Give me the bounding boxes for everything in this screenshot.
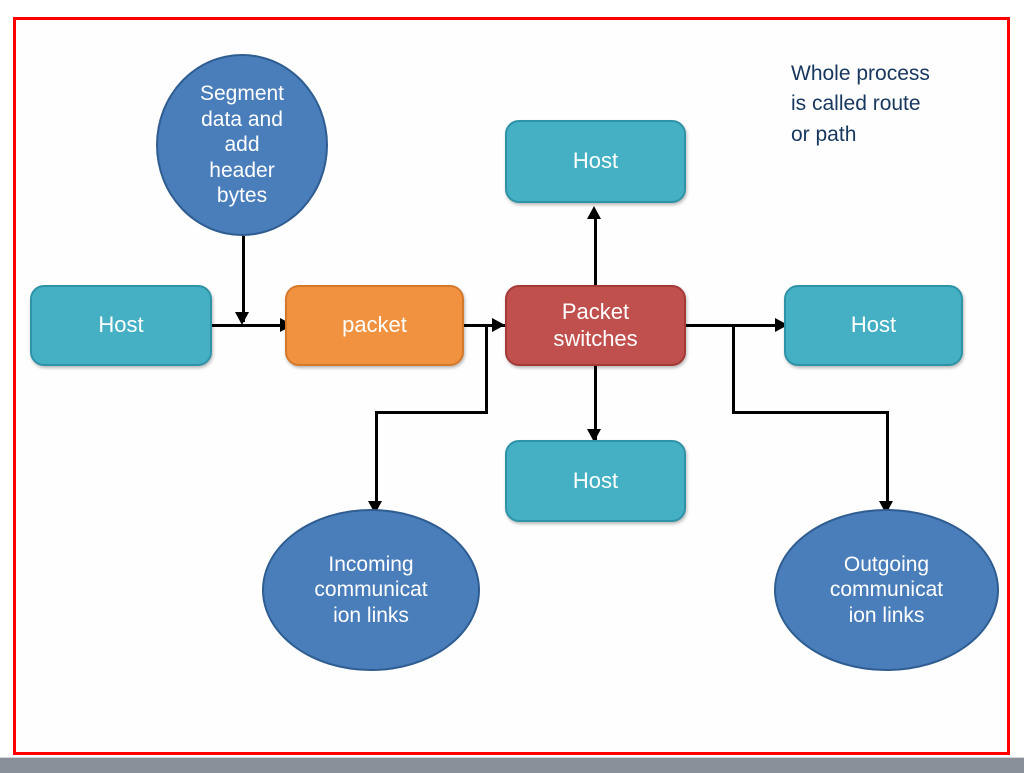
- outgoing-line-3: ion links: [849, 604, 925, 627]
- note-line-1: Whole process: [791, 59, 996, 89]
- node-packet[interactable]: packet: [285, 285, 464, 366]
- connector-segment-to-link: [242, 236, 245, 322]
- node-host-left[interactable]: Host: [30, 285, 212, 366]
- segment-line-4: header: [209, 159, 274, 182]
- segment-line-1: Segment: [200, 82, 284, 105]
- outgoing-line-1: Outgoing: [844, 553, 929, 576]
- host-left-label: Host: [98, 312, 143, 339]
- packet-switches-line-2: switches: [553, 326, 637, 351]
- connector-branch-outgoing-vertical-1: [732, 324, 735, 414]
- segment-line-3: add: [224, 133, 259, 156]
- diagram-screenshot: Whole process is called route or path: [0, 0, 1024, 773]
- node-host-right[interactable]: Host: [784, 285, 963, 366]
- segment-line-2: data and: [201, 108, 283, 131]
- connector-branch-incoming-vertical-1: [485, 324, 488, 414]
- node-incoming-ellipse[interactable]: Incoming communicat ion links: [262, 509, 480, 671]
- incoming-line-1: Incoming: [328, 553, 413, 576]
- node-host-top[interactable]: Host: [505, 120, 686, 203]
- connector-branch-outgoing-vertical-2: [886, 411, 889, 509]
- note-line-3: or path: [791, 120, 996, 150]
- host-top-label: Host: [573, 148, 618, 175]
- note-line-2: is called route: [791, 89, 996, 119]
- node-packet-switches[interactable]: Packet switches: [505, 285, 686, 366]
- bottom-status-bar: [0, 757, 1024, 773]
- packet-switches-line-1: Packet: [562, 299, 629, 324]
- segment-line-5: bytes: [217, 184, 267, 207]
- connector-branch-outgoing-horizontal: [732, 411, 889, 414]
- host-bottom-label: Host: [573, 468, 618, 495]
- note-whole-process: Whole process is called route or path: [791, 59, 996, 150]
- node-host-bottom[interactable]: Host: [505, 440, 686, 522]
- node-segment-circle[interactable]: Segment data and add header bytes: [156, 54, 328, 236]
- host-right-label: Host: [851, 312, 896, 339]
- packet-label: packet: [342, 312, 407, 339]
- arrowhead-packet-to-switches: [492, 318, 505, 332]
- diagram-canvas: Whole process is called route or path: [13, 17, 1010, 755]
- arrowhead-host-top: [587, 206, 601, 219]
- connector-branch-incoming-horizontal: [375, 411, 488, 414]
- incoming-line-3: ion links: [333, 604, 409, 627]
- incoming-line-2: communicat: [314, 578, 427, 601]
- node-outgoing-ellipse[interactable]: Outgoing communicat ion links: [774, 509, 999, 671]
- connector-branch-incoming-vertical-2: [375, 411, 378, 509]
- outgoing-line-2: communicat: [830, 578, 943, 601]
